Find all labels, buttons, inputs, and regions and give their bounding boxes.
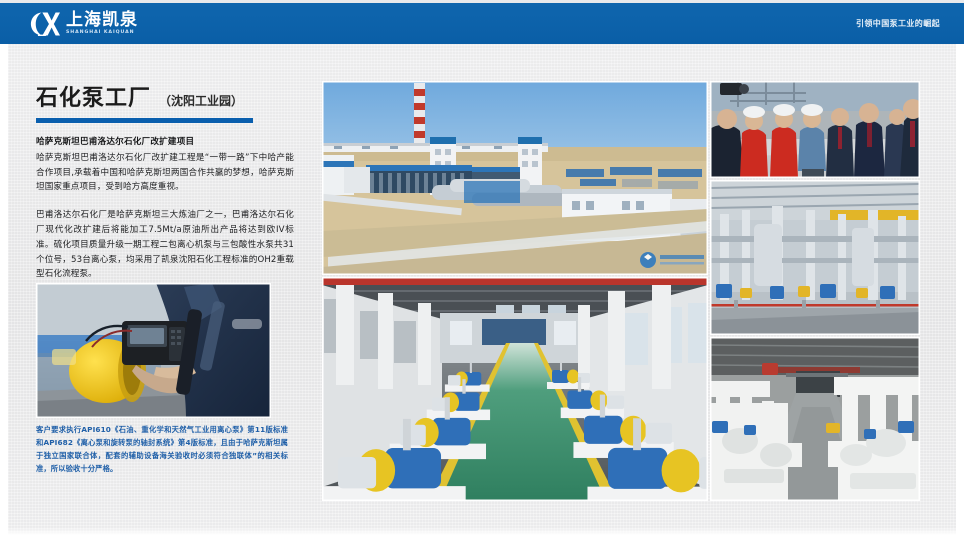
- kaiquan-logo-icon: [30, 10, 60, 38]
- industrial-piping-skid-photo: [710, 180, 920, 335]
- project-paragraph-2: 巴甫洛达尔石化厂是哈萨克斯坦三大炼油厂之一，巴甫洛达尔石化厂现代化改扩建后将能加…: [36, 208, 294, 282]
- page-title-main: 石化泵工厂: [36, 80, 151, 112]
- white-painted-pump-units-photo: [710, 337, 920, 501]
- brand-name-en: SHANGHAI KAIQUAN: [66, 31, 139, 36]
- project-paragraph-1: 哈萨克斯坦巴甫洛达尔石化厂改扩建工程是“一带一路”下中哈产能合作项目,承载着中国…: [36, 151, 294, 195]
- brand-logo[interactable]: 上海凯泉 SHANGHAI KAIQUAN: [30, 10, 138, 38]
- brand-wordmark: 上海凯泉 SHANGHAI KAIQUAN: [66, 12, 138, 37]
- refinery-plant-aerial-photo: [322, 81, 708, 275]
- slide-page: 上海凯泉 SHANGHAI KAIQUAN 引领中国泵工业的崛起 石化泵工厂 （…: [0, 0, 964, 549]
- page-title: 石化泵工厂 （沈阳工业园）: [36, 80, 294, 112]
- brand-header-bar: 上海凯泉 SHANGHAI KAIQUAN 引领中国泵工业的崛起: [0, 3, 964, 44]
- official-delegation-site-visit-photo: [710, 81, 920, 178]
- page-title-sub: （沈阳工业园）: [159, 92, 243, 109]
- api-standards-caption: 客户要求执行API610《石油、重化学和天然气工业用离心泵》第11版标准和API…: [36, 424, 288, 476]
- pump-assembly-hall-photo: [322, 277, 708, 501]
- left-text-column: 石化泵工厂 （沈阳工业园） 哈萨克斯坦巴甫洛达尔石化厂改扩建项目 哈萨克斯坦巴甫…: [36, 80, 294, 282]
- technician-pump-diagnostic-photo: [36, 283, 271, 418]
- title-underline-rule: [36, 118, 253, 123]
- header-tagline: 引领中国泵工业的崛起: [856, 3, 940, 44]
- project-heading: 哈萨克斯坦巴甫洛达尔石化厂改扩建项目: [36, 136, 294, 149]
- brand-name-cn: 上海凯泉: [66, 12, 138, 29]
